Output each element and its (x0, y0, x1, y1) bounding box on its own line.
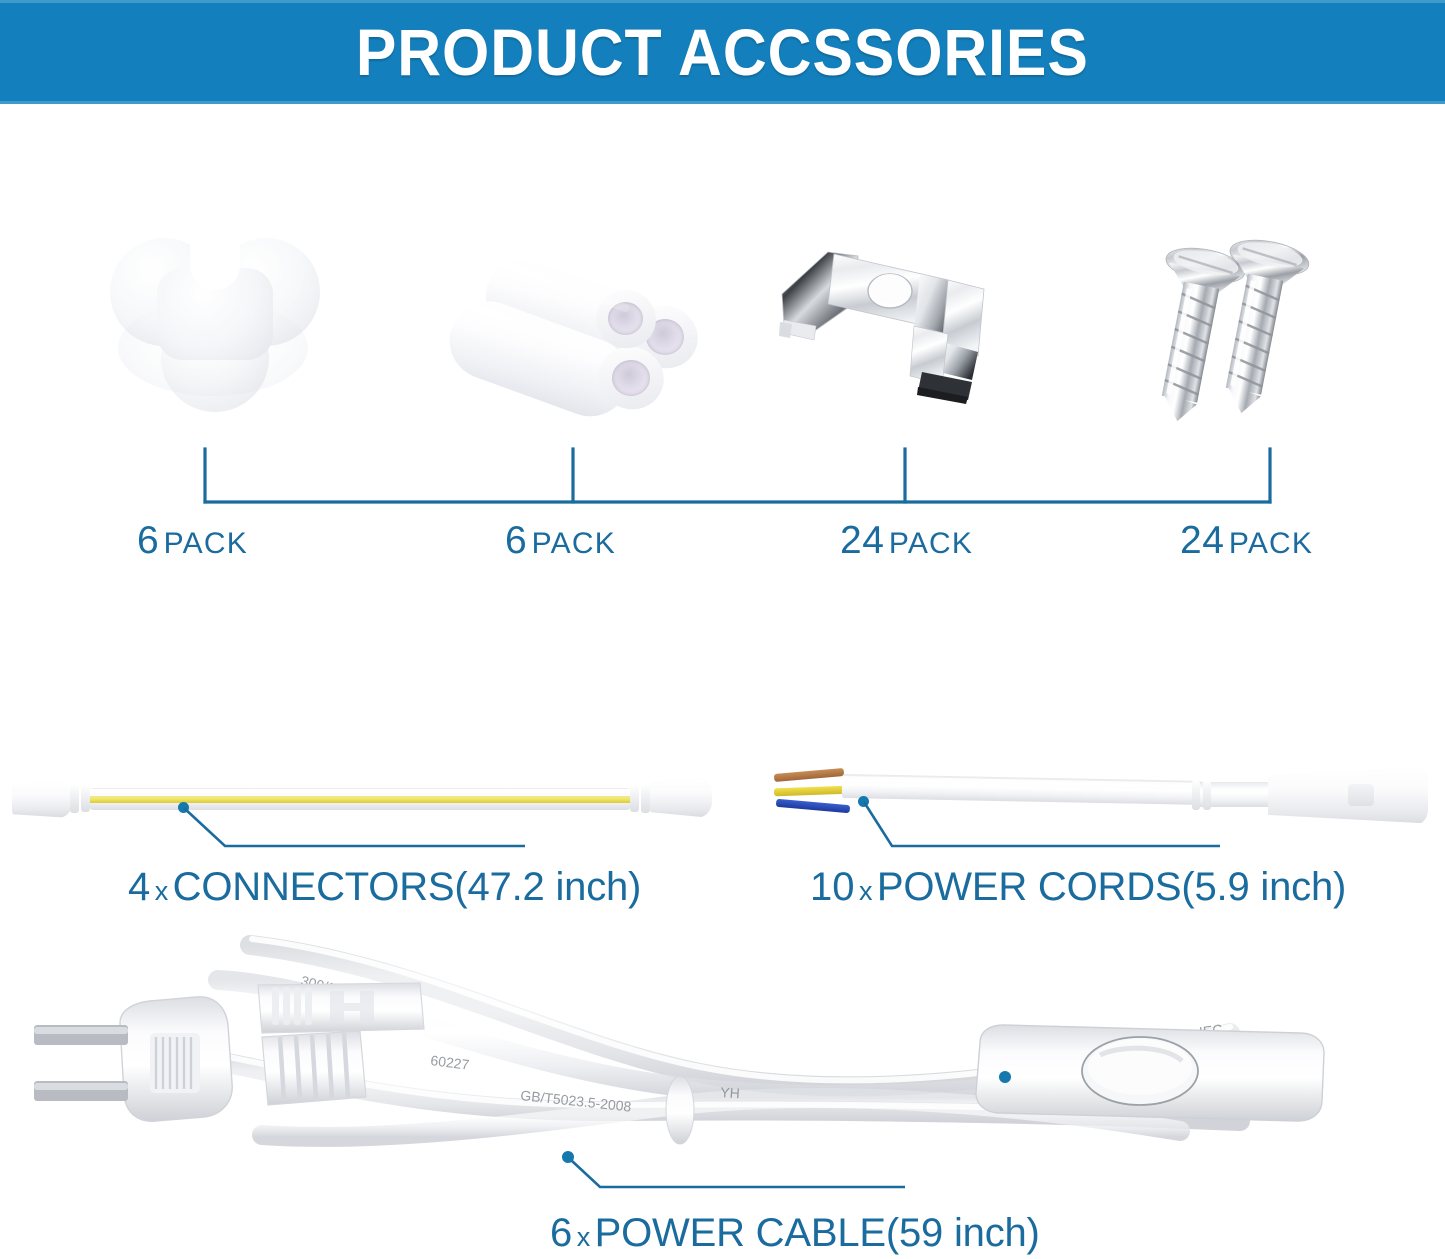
strain-relief (262, 1031, 366, 1105)
hardware-item-1 (110, 224, 320, 424)
hardware-item-4 (1150, 224, 1340, 424)
power-cord-quantity: 10 (810, 865, 855, 909)
product-accessories-infographic: PRODUCT ACCSSORIES (0, 0, 1445, 1259)
hardware-item-2 (448, 224, 688, 424)
us-plug (34, 997, 232, 1121)
power-cable-description: POWER CABLE(59 inch) (595, 1211, 1040, 1255)
screws-svg (1150, 230, 1340, 420)
inline-switch (976, 1025, 1324, 1121)
hardware-item-3 (772, 224, 1007, 424)
metal-mounting-clip-icon (772, 224, 1007, 424)
power-cable-multiplier: x (577, 1222, 591, 1252)
header-banner: PRODUCT ACCSSORIES (0, 0, 1445, 104)
cable-print: YH (720, 1084, 741, 1101)
power-cord-leader-line (760, 740, 1445, 940)
power-cord-multiplier: x (859, 876, 873, 906)
connector-quantity: 4 (128, 865, 150, 909)
power-cord-description: POWER CORDS(5.9 inch) (877, 865, 1346, 909)
cable-items-row: 4 x CONNECTORS(47.2 inch) (0, 740, 1445, 940)
power-cable-svg: GB/T5023.5-2008 YH 60227 IEC 2x0.5mm² 30… (0, 925, 1445, 1185)
power-cable-leader-dot-upper (999, 1071, 1011, 1083)
sleeve-connector-icon (448, 224, 688, 424)
connector-leader-line (0, 740, 760, 940)
connector-description: CONNECTORS(47.2 inch) (173, 865, 642, 909)
cable-print: 60227 (430, 1052, 471, 1073)
power-cord-label: 10 x POWER CORDS(5.9 inch) (810, 865, 1346, 910)
metal-clip-svg (772, 234, 1007, 414)
connector-cable-item: 4 x CONNECTORS(47.2 inch) (0, 740, 760, 940)
trefoil-clip-icon (110, 224, 320, 424)
power-cable-row: GB/T5023.5-2008 YH 60227 IEC 2x0.5mm² 30… (0, 925, 1445, 1185)
page-title: PRODUCT ACCSSORIES (356, 14, 1089, 90)
power-cable-quantity: 6 (550, 1211, 572, 1255)
connector-multiplier: x (155, 876, 169, 906)
power-cord-item: 10 x POWER CORDS(5.9 inch) (760, 740, 1445, 940)
power-cable-leader-line (572, 1161, 905, 1187)
connector-cable-label: 4 x CONNECTORS(47.2 inch) (128, 865, 641, 910)
screws-icon (1150, 224, 1340, 424)
power-cable-label: 6 x POWER CABLE(59 inch) (550, 1211, 1040, 1256)
hardware-items-row (0, 104, 1445, 584)
